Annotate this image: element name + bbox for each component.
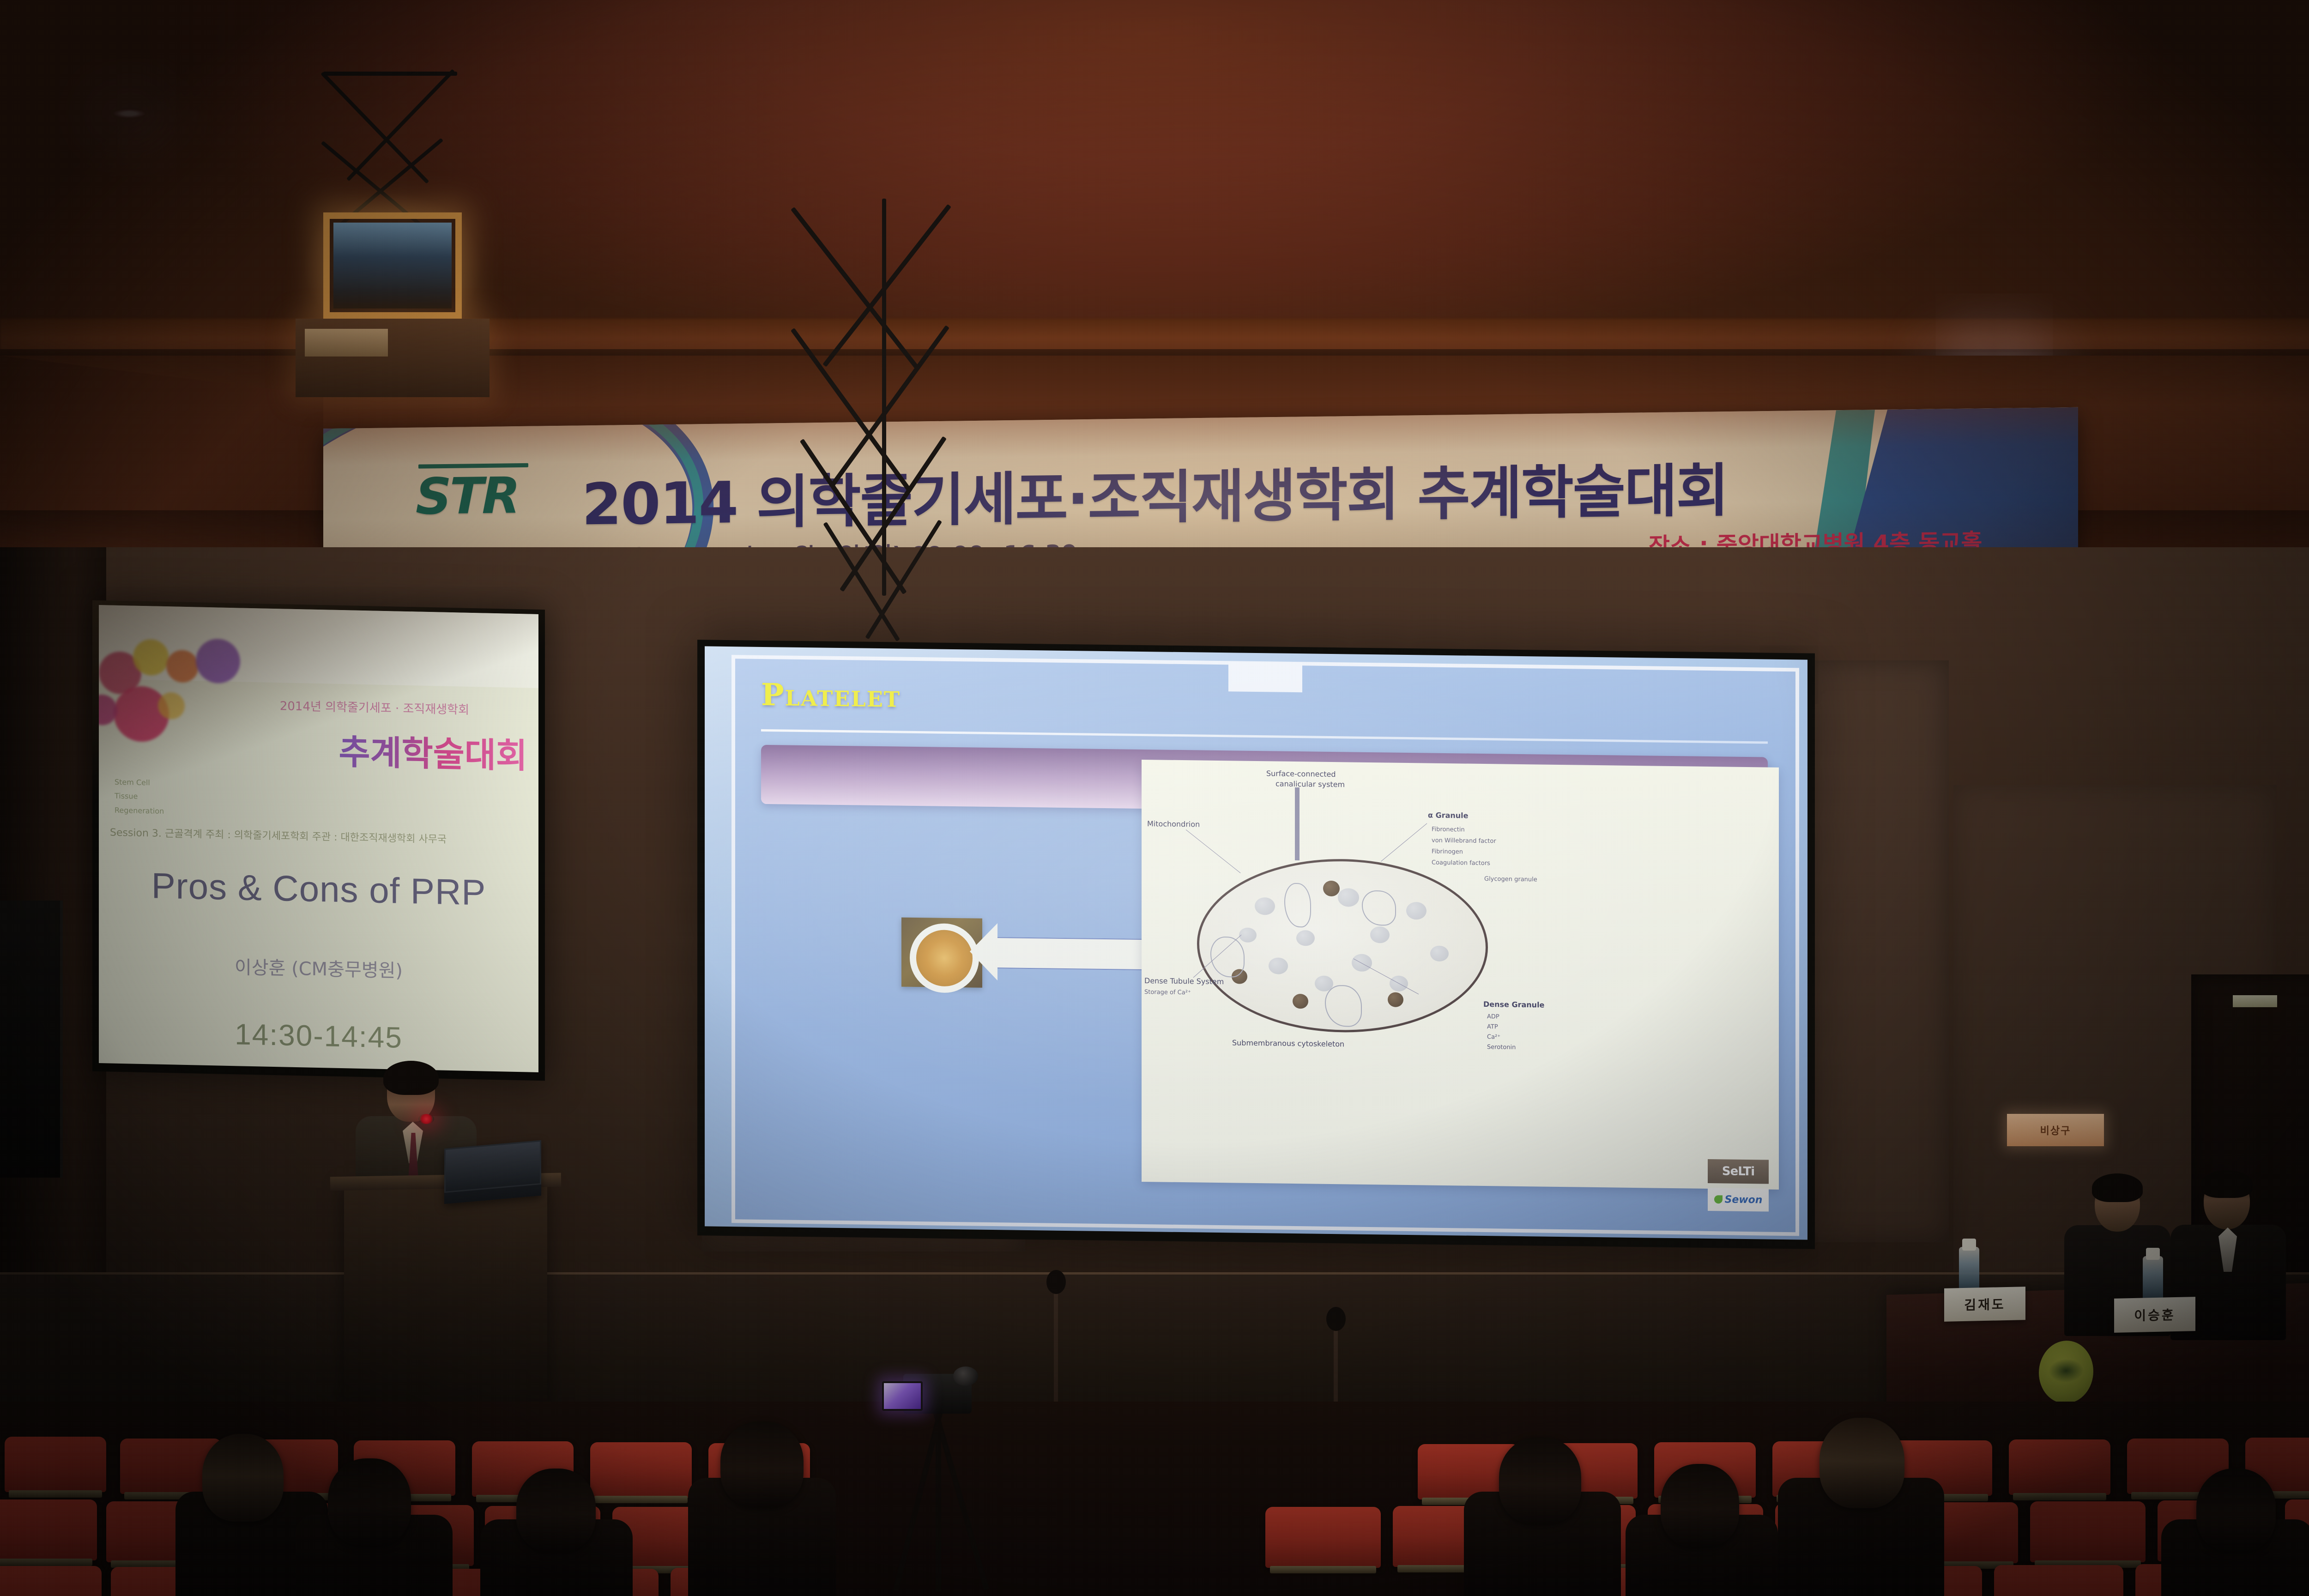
left-screen-time: 14:30-14:45 — [99, 1014, 538, 1058]
left-screen-tiny-lines: Stem Cell Tissue Regeneration — [115, 775, 164, 818]
camera-lcd-screen[interactable] — [882, 1381, 923, 1411]
str-logo: STR — [416, 467, 519, 526]
wall-panel-right — [1792, 660, 1949, 1242]
diagram-label: ADP — [1487, 1012, 1499, 1022]
diagram-label: Serotonin — [1487, 1043, 1516, 1053]
camera-tripod — [864, 1374, 1016, 1596]
diagram-label: Coagulation factors — [1432, 858, 1490, 869]
microphone-head — [1326, 1307, 1346, 1331]
auditorium-seat[interactable] — [1994, 1565, 2123, 1596]
diagram-label: Mitochondrion — [1147, 818, 1200, 830]
diagram-label: von Willebrand factor — [1432, 836, 1496, 847]
diagram-label: ATP — [1487, 1022, 1498, 1032]
auditorium-seat[interactable] — [0, 1566, 102, 1596]
nameplate-label: 이승훈 — [2134, 1305, 2175, 1324]
audience-head — [2196, 1469, 2276, 1552]
diagram-label: Glycogen granule — [1484, 875, 1537, 885]
podium — [344, 1182, 547, 1413]
diagram-label: Ca²⁺ — [1487, 1033, 1500, 1042]
microphone-head — [1046, 1270, 1066, 1294]
auditorium-seat[interactable] — [5, 1437, 106, 1492]
diagram-label: Storage of Ca²⁺ — [1144, 988, 1191, 998]
audience-head — [1819, 1418, 1904, 1508]
audience-head — [720, 1421, 804, 1507]
diagram-label: Dense Granule — [1483, 998, 1544, 1011]
bottle-cap — [1962, 1239, 1976, 1251]
lift-base-platform — [296, 319, 490, 397]
callout-arrow-head — [970, 923, 997, 980]
auditorium-seat[interactable] — [1265, 1507, 1381, 1568]
lift-work-basket — [323, 212, 462, 319]
nameplate: 이승훈 — [2114, 1297, 2195, 1333]
auditorium-seat[interactable] — [0, 1499, 97, 1560]
diagram-label: α Granule — [1428, 810, 1469, 822]
main-projection-screen: Platelet Ultra-structure — [697, 640, 1815, 1249]
auditorium-seat[interactable] — [2030, 1501, 2146, 1562]
left-screen-header-kr: 추계학술대회 — [339, 725, 527, 778]
platelet-ultrastructure-diagram: Surface-connected canalicular system Mit… — [1142, 760, 1779, 1190]
audience-head — [328, 1458, 411, 1546]
sponsor-logo: Sewon — [1708, 1188, 1769, 1212]
diagram-label: Dense Tubule System — [1144, 975, 1224, 988]
left-projection-screen: 2014년 의학줄기세포 · 조직재생학회 추계학술대회 Stem Cell T… — [92, 600, 545, 1081]
nameplate: 김재도 — [1944, 1287, 2025, 1322]
slide-top-tab — [1228, 662, 1302, 692]
slide-heading: Platelet — [761, 677, 901, 714]
presentation-slide: Platelet Ultra-structure — [731, 655, 1799, 1236]
seltie-logo-text: SeLTi — [1722, 1164, 1754, 1179]
camera-lens-icon — [953, 1366, 978, 1386]
audience-head — [516, 1469, 596, 1552]
auditorium-seat[interactable] — [2009, 1439, 2110, 1495]
diagram-label: Fibrinogen — [1432, 847, 1463, 858]
society-emblem — [2039, 1340, 2093, 1404]
nameplate-label: 김재도 — [1964, 1294, 2005, 1314]
sponsor-logo-text: Sewon — [1725, 1194, 1763, 1206]
callout-arrow-bar — [994, 937, 1162, 970]
platelet-cell-outline — [1197, 857, 1488, 1034]
door-transom-light — [2233, 995, 2277, 1007]
scissor-lift — [813, 199, 1007, 614]
exit-sign-label: 비상구 — [2040, 1123, 2071, 1137]
lift-upper-arms — [323, 72, 457, 210]
wall-mounted-monitor — [0, 901, 63, 1178]
diagram-label: Submembranous cytoskeleton — [1232, 1037, 1344, 1050]
auditorium-seat[interactable] — [590, 1442, 692, 1498]
audience-head — [202, 1434, 284, 1522]
left-screen-title: Pros & Cons of PRP — [99, 864, 538, 915]
emergency-exit-sign: 비상구 — [2007, 1114, 2104, 1146]
conference-hall-photo: STR 2014 의학줄기세포·조직재생학회 추계학술대회 일시 : 2014년… — [0, 0, 2309, 1596]
diagram-label: canalicular system — [1275, 778, 1345, 791]
bottle-cap — [2146, 1248, 2160, 1260]
red-indicator-light — [418, 1114, 434, 1124]
video-camera[interactable] — [903, 1374, 972, 1414]
ceiling-downlight — [113, 109, 145, 118]
seltie-logo: SeLTi — [1708, 1159, 1769, 1184]
diagram-label: Fibronectin — [1432, 825, 1465, 835]
presenter-laptop — [444, 1140, 541, 1204]
audience-head — [1499, 1437, 1581, 1524]
micrograph-highlight-circle — [910, 923, 979, 993]
left-screen-footer: Session 3. 근골격계 주최 : 의학줄기세포학회 주관 : 대한조직재… — [110, 824, 529, 848]
left-screen-speaker: 이상훈 (CM충무병원) — [99, 949, 538, 985]
left-screen-header-small: 2014년 의학줄기세포 · 조직재생학회 — [280, 696, 469, 718]
leaf-icon — [1714, 1195, 1723, 1203]
audience-head — [1661, 1464, 1739, 1547]
slide-divider — [761, 729, 1768, 744]
